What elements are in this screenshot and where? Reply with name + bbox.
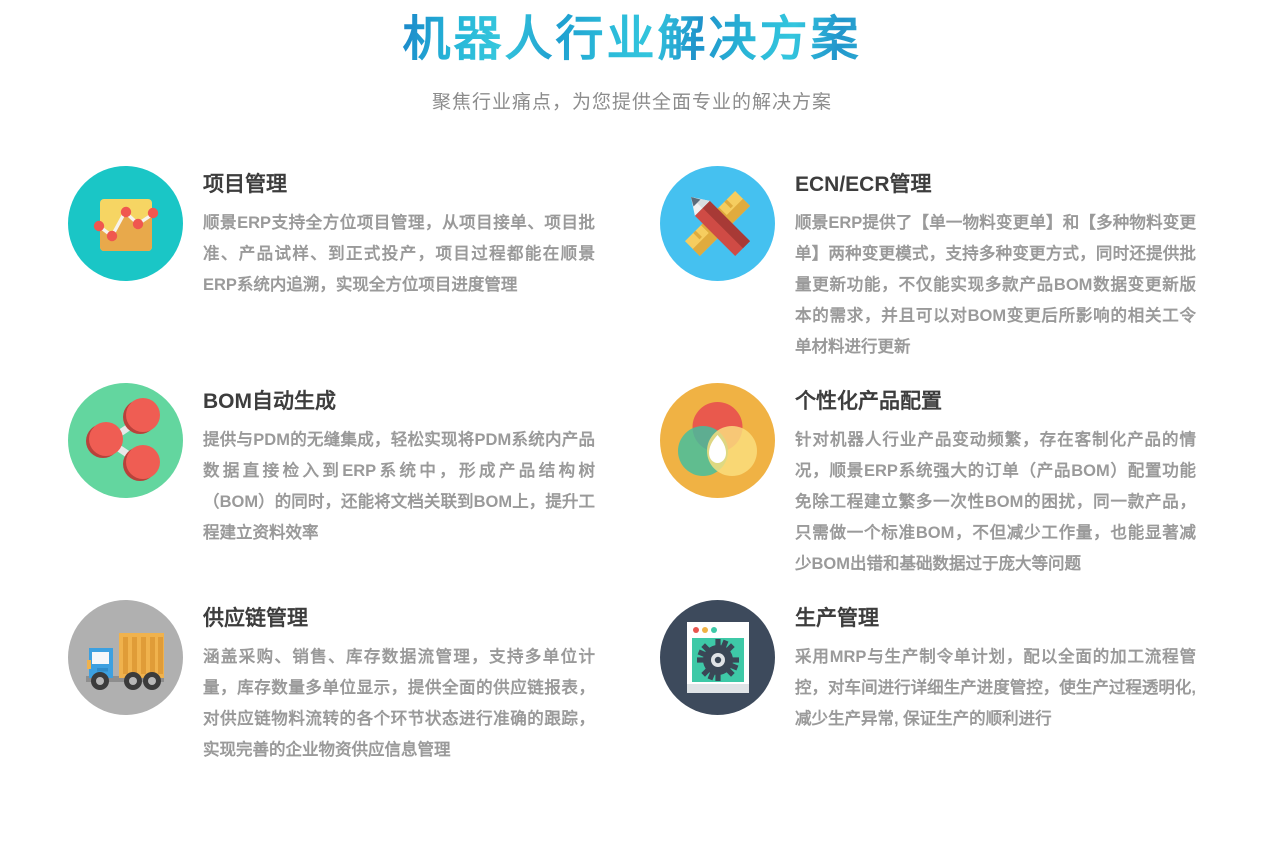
solution-card-bom-auto-generation[interactable]: BOM自动生成 提供与PDM的无缝集成，轻松实现将PDM系统内产品数据直接检入到… xyxy=(68,383,604,580)
card-body: 生产管理 采用MRP与生产制令单计划，配以全面的加工流程管控，对车间进行详细生产… xyxy=(795,600,1196,735)
card-title: 项目管理 xyxy=(203,170,595,200)
browser-gear-icon xyxy=(660,600,775,715)
pencil-ruler-icon xyxy=(660,166,775,281)
solution-card-production-management[interactable]: 生产管理 采用MRP与生产制令单计划，配以全面的加工流程管控，对车间进行详细生产… xyxy=(660,600,1196,766)
card-body: 项目管理 顺景ERP支持全方位项目管理，从项目接单、项目批准、产品试样、到正式投… xyxy=(203,166,595,301)
card-body: ECN/ECR管理 顺景ERP提供了【单一物料变更单】和【多种物料变更单】两种变… xyxy=(795,166,1196,363)
solution-card-product-configuration[interactable]: 个性化产品配置 针对机器人行业产品变动频繁，存在客制化产品的情况，顺景ERP系统… xyxy=(660,383,1196,580)
solution-card-supply-chain-management[interactable]: 供应链管理 涵盖采购、销售、库存数据流管理，支持多单位计量，库存数量多单位显示，… xyxy=(68,600,604,766)
solution-card-grid: 项目管理 顺景ERP支持全方位项目管理，从项目接单、项目批准、产品试样、到正式投… xyxy=(0,166,1264,786)
card-description: 提供与PDM的无缝集成，轻松实现将PDM系统内产品数据直接检入到ERP系统中，形… xyxy=(203,425,595,549)
card-icon-wrapper xyxy=(660,600,775,715)
share-network-icon xyxy=(68,383,183,498)
card-description: 采用MRP与生产制令单计划，配以全面的加工流程管控，对车间进行详细生产进度管控，… xyxy=(795,642,1196,735)
card-description: 针对机器人行业产品变动频繁，存在客制化产品的情况，顺景ERP系统强大的订单（产品… xyxy=(795,425,1196,580)
card-description: 顺景ERP提供了【单一物料变更单】和【多种物料变更单】两种变更模式，支持多种变更… xyxy=(795,208,1196,363)
solution-card-project-management[interactable]: 项目管理 顺景ERP支持全方位项目管理，从项目接单、项目批准、产品试样、到正式投… xyxy=(68,166,604,363)
solution-card-ecn-ecr-management[interactable]: ECN/ECR管理 顺景ERP提供了【单一物料变更单】和【多种物料变更单】两种变… xyxy=(660,166,1196,363)
card-title: 生产管理 xyxy=(795,604,1196,634)
card-title: 供应链管理 xyxy=(203,604,595,634)
card-icon-wrapper xyxy=(68,600,183,715)
card-description: 涵盖采购、销售、库存数据流管理，支持多单位计量，库存数量多单位显示，提供全面的供… xyxy=(203,642,595,766)
card-body: 供应链管理 涵盖采购、销售、库存数据流管理，支持多单位计量，库存数量多单位显示，… xyxy=(203,600,595,766)
card-title: ECN/ECR管理 xyxy=(795,170,1196,200)
venn-diagram-icon xyxy=(660,383,775,498)
card-icon-wrapper xyxy=(660,166,775,281)
card-title: BOM自动生成 xyxy=(203,387,595,417)
card-body: 个性化产品配置 针对机器人行业产品变动频繁，存在客制化产品的情况，顺景ERP系统… xyxy=(795,383,1196,580)
delivery-truck-icon xyxy=(68,600,183,715)
page-header: 机器人行业解决方案 聚焦行业痛点，为您提供全面专业的解决方案 xyxy=(0,0,1264,116)
card-title: 个性化产品配置 xyxy=(795,387,1196,417)
card-icon-wrapper xyxy=(68,166,183,281)
card-icon-wrapper xyxy=(660,383,775,498)
page-title: 机器人行业解决方案 xyxy=(402,10,861,70)
card-description: 顺景ERP支持全方位项目管理，从项目接单、项目批准、产品试样、到正式投产，项目过… xyxy=(203,208,595,301)
bar-chart-icon xyxy=(68,166,183,281)
card-body: BOM自动生成 提供与PDM的无缝集成，轻松实现将PDM系统内产品数据直接检入到… xyxy=(203,383,595,549)
page-subtitle: 聚焦行业痛点，为您提供全面专业的解决方案 xyxy=(0,90,1264,116)
card-icon-wrapper xyxy=(68,383,183,498)
solutions-page: 机器人行业解决方案 聚焦行业痛点，为您提供全面专业的解决方案 xyxy=(0,0,1264,860)
